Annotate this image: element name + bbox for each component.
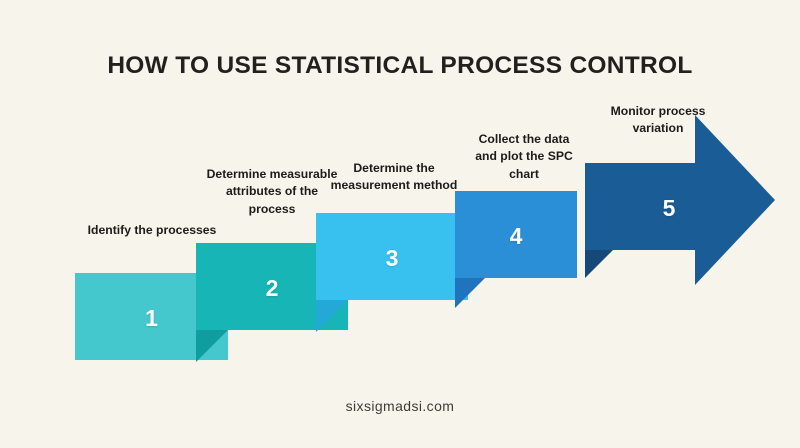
step-5-label: Monitor process variation: [610, 103, 706, 138]
step-3-fold-shadow: [316, 300, 348, 332]
infographic-canvas: HOW TO USE STATISTICAL PROCESS CONTROL 1…: [0, 0, 800, 448]
step-4-fold-shadow: [455, 278, 485, 308]
step-2-fold-shadow: [196, 330, 228, 362]
step-1-label: Identify the processes: [81, 222, 223, 239]
step-3-number: 3: [316, 245, 468, 272]
step-5-number: 5: [614, 195, 724, 222]
page-title: HOW TO USE STATISTICAL PROCESS CONTROL: [0, 52, 800, 80]
step-2-label: Determine measurable attributes of the p…: [202, 166, 342, 218]
source-watermark: sixsigmadsi.com: [0, 398, 800, 414]
step-3-label: Determine the measurement method: [330, 160, 458, 195]
step-5-fold-shadow: [585, 250, 613, 278]
step-4-label: Collect the data and plot the SPC chart: [471, 131, 577, 183]
step-4-number: 4: [455, 223, 577, 250]
